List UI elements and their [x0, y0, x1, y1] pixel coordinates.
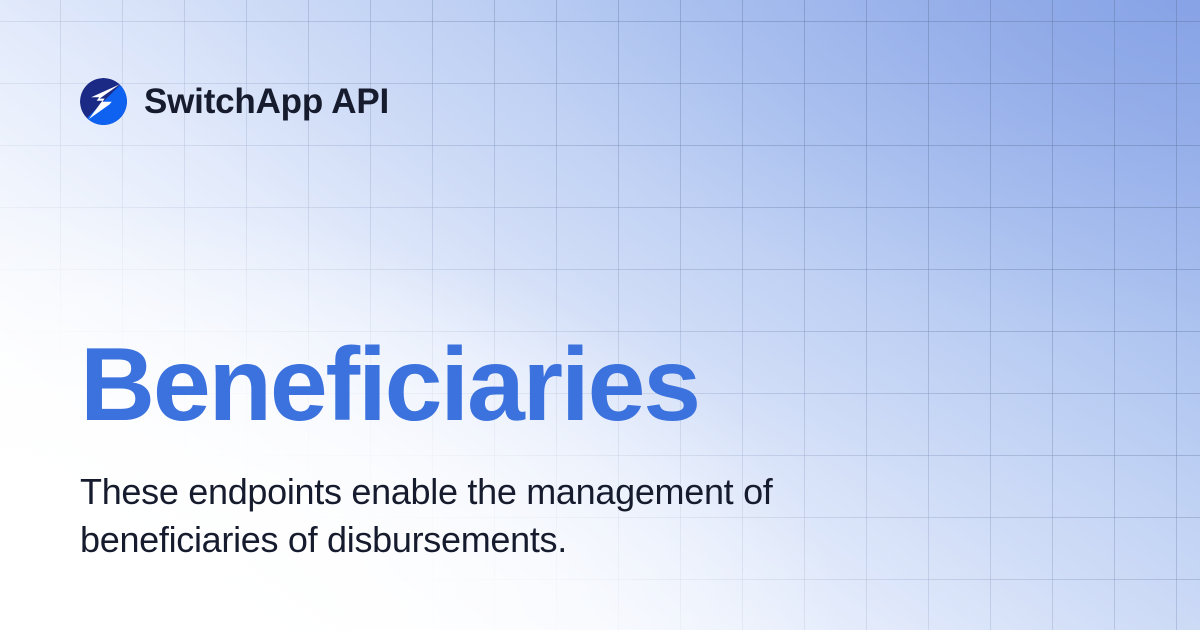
brand-name: SwitchApp API	[144, 84, 389, 119]
switchapp-bolt-logo-icon	[80, 78, 127, 125]
page-description: These endpoints enable the management of…	[80, 468, 870, 564]
page-title: Beneficiaries	[80, 330, 699, 440]
banner-content: SwitchApp API Beneficiaries These endpoi…	[0, 0, 1200, 630]
brand-lockup: SwitchApp API	[80, 78, 389, 125]
og-banner-canvas: SwitchApp API Beneficiaries These endpoi…	[0, 0, 1200, 630]
